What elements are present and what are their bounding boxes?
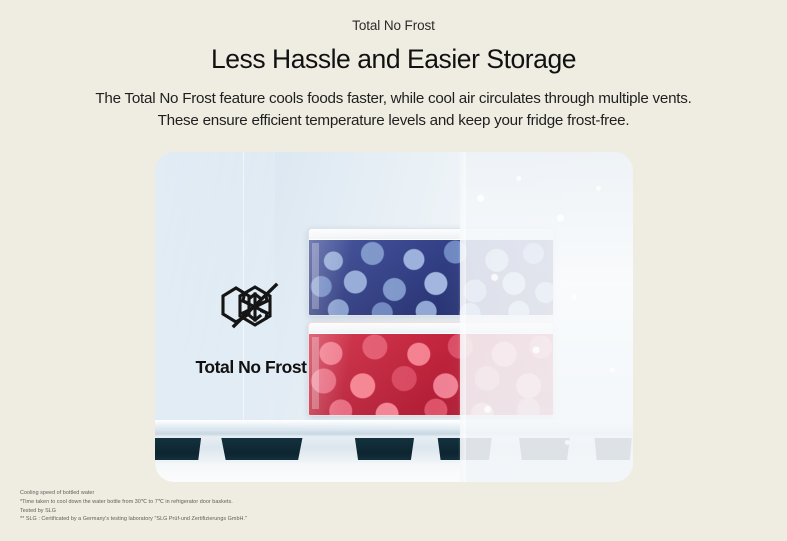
footnotes: Cooling speed of bottled water *Time tak… — [20, 489, 560, 524]
logo-label: Total No Frost — [181, 357, 321, 378]
description-text: The Total No Frost feature cools foods f… — [79, 88, 709, 132]
product-feature-page: Total No Frost Less Hassle and Easier St… — [0, 0, 787, 541]
vent-opening — [517, 438, 571, 460]
raspberries — [309, 334, 553, 415]
container-lid — [309, 323, 553, 334]
hero-image: Total No Frost — [155, 152, 633, 482]
footnote-line: *Time taken to cool down the water bottl… — [20, 498, 560, 507]
footnote-line: Cooling speed of bottled water — [20, 489, 560, 498]
eyebrow-label: Total No Frost — [0, 18, 787, 33]
footnote-line: Tested by SLG — [20, 507, 560, 516]
page-title: Less Hassle and Easier Storage — [0, 44, 787, 75]
raspberry-container — [308, 322, 554, 416]
blueberries — [309, 240, 553, 315]
blueberry-container — [308, 228, 554, 316]
vent-opening — [593, 438, 633, 460]
fridge-floor — [155, 463, 633, 482]
footnote-line: ** SLG : Certificated by a Germany's tes… — [20, 515, 560, 524]
vent-opening — [353, 438, 416, 460]
shelf-rail — [155, 429, 633, 437]
total-no-frost-logo: Total No Frost — [181, 274, 321, 378]
vent-opening — [436, 438, 494, 460]
no-frost-snowflake-hexagon-icon — [214, 274, 288, 348]
header: Total No Frost Less Hassle and Easier St… — [0, 0, 787, 132]
vent-opening — [219, 438, 305, 460]
vent-strip — [155, 437, 633, 463]
vent-opening — [155, 438, 203, 460]
container-lid — [309, 229, 553, 240]
